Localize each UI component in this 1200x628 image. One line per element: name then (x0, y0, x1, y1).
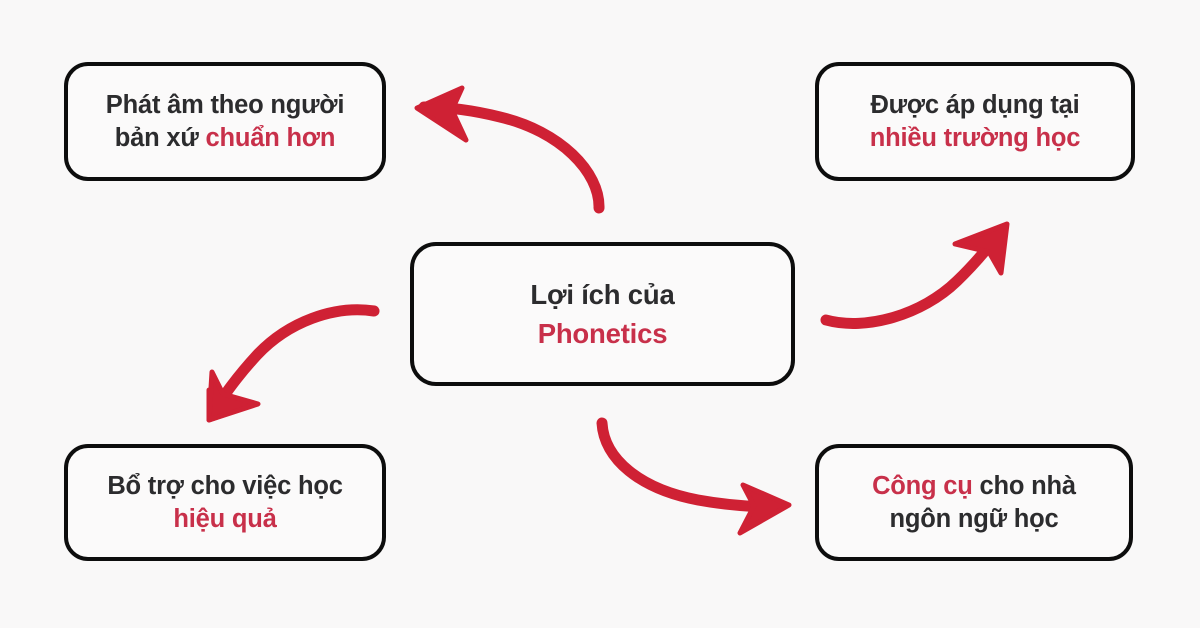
benefit-pronunciation-line2: bản xứ chuẩn hơn (115, 122, 335, 155)
benefit-pronunciation-box[interactable]: Phát âm theo người bản xứ chuẩn hơn (64, 62, 386, 181)
benefit-schools-line1: Được áp dụng tại (870, 89, 1079, 122)
arrow-to-bottom-right (602, 423, 789, 533)
benefit-schools-line2-accent: nhiều trường học (870, 122, 1080, 155)
center-node-box[interactable]: Lợi ích của Phonetics (410, 242, 795, 386)
benefit-linguists-line1: Công cụ cho nhà (872, 470, 1076, 503)
benefit-schools-box[interactable]: Được áp dụng tại nhiều trường học (815, 62, 1135, 181)
center-node-line1: Lợi ích của (530, 275, 674, 314)
arrow-to-top-left (417, 88, 599, 208)
benefit-linguists-line2: ngôn ngữ học (889, 503, 1058, 536)
benefit-study-support-box[interactable]: Bổ trợ cho việc học hiệu quả (64, 444, 386, 561)
benefit-linguists-line1-accent: Công cụ (872, 472, 973, 500)
center-node-line2: Phonetics (538, 314, 668, 353)
benefit-study-support-line1: Bổ trợ cho việc học (107, 470, 342, 503)
benefit-linguists-line1-plain: cho nhà (973, 472, 1076, 500)
benefit-linguists-box[interactable]: Công cụ cho nhà ngôn ngữ học (815, 444, 1133, 561)
arrow-to-top-right (826, 224, 1007, 323)
diagram-canvas: Phát âm theo người bản xứ chuẩn hơn Được… (0, 0, 1200, 628)
benefit-pronunciation-line1: Phát âm theo người (106, 89, 344, 122)
arrow-to-bottom-left (209, 310, 374, 420)
benefit-study-support-line2-accent: hiệu quả (173, 503, 276, 536)
benefit-pronunciation-line2-accent: chuẩn hơn (206, 124, 336, 152)
benefit-pronunciation-line2-plain: bản xứ (115, 124, 206, 152)
